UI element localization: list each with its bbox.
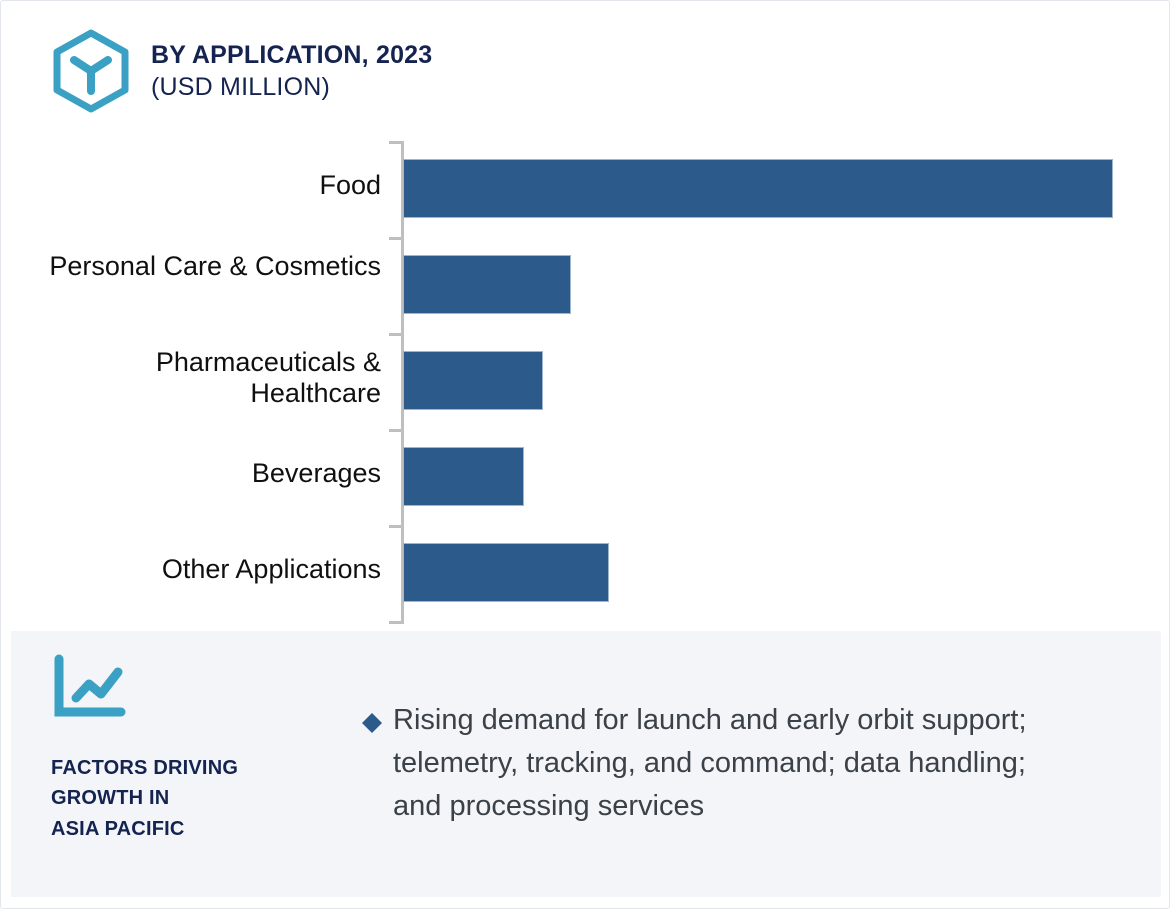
factors-title: FACTORS DRIVING GROWTH IN ASIA PACIFIC [51, 753, 341, 844]
axis-tick [389, 621, 402, 624]
factors-bullet-text: Rising demand for launch and early orbit… [393, 699, 1061, 828]
factors-title-line: GROWTH IN [51, 783, 341, 813]
bar-other-applications[interactable] [403, 543, 609, 602]
bar-category-label: Food [41, 170, 381, 201]
page-subtitle: (USD MILLION) [151, 71, 432, 103]
bar-pharmaceuticals-healthcare[interactable] [403, 351, 543, 410]
infographic-card: BY APPLICATION, 2023 (USD MILLION) Food … [0, 0, 1170, 909]
card-header: BY APPLICATION, 2023 (USD MILLION) [49, 29, 432, 113]
bar-chart: Food Personal Care & Cosmetics Pharmaceu… [1, 131, 1170, 631]
bar-category-label: Personal Care & Cosmetics [41, 251, 381, 282]
page-title: BY APPLICATION, 2023 [151, 39, 432, 71]
bar-row: Pharmaceuticals & Healthcare [1, 333, 1170, 429]
factors-bullet-item: Rising demand for launch and early orbit… [361, 699, 1061, 828]
bar-category-label: Beverages [41, 458, 381, 489]
hexagon-y-logo-icon [49, 29, 133, 113]
bar-category-label: Pharmaceuticals & Healthcare [41, 347, 381, 409]
factors-panel: FACTORS DRIVING GROWTH IN ASIA PACIFIC R… [11, 631, 1161, 897]
bar-personal-care-cosmetics[interactable] [403, 255, 571, 314]
bar-row: Personal Care & Cosmetics [1, 237, 1170, 333]
factors-title-line: FACTORS DRIVING [51, 753, 341, 783]
line-chart-icon [51, 653, 129, 721]
bar-row: Beverages [1, 429, 1170, 525]
bar-row: Other Applications [1, 525, 1170, 621]
title-block: BY APPLICATION, 2023 (USD MILLION) [151, 29, 432, 103]
bar-beverages[interactable] [403, 447, 524, 506]
bar-row: Food [1, 141, 1170, 237]
diamond-bullet-icon [361, 712, 383, 734]
factors-title-line: ASIA PACIFIC [51, 814, 341, 844]
bar-food[interactable] [403, 159, 1113, 218]
bar-category-label: Other Applications [41, 554, 381, 585]
